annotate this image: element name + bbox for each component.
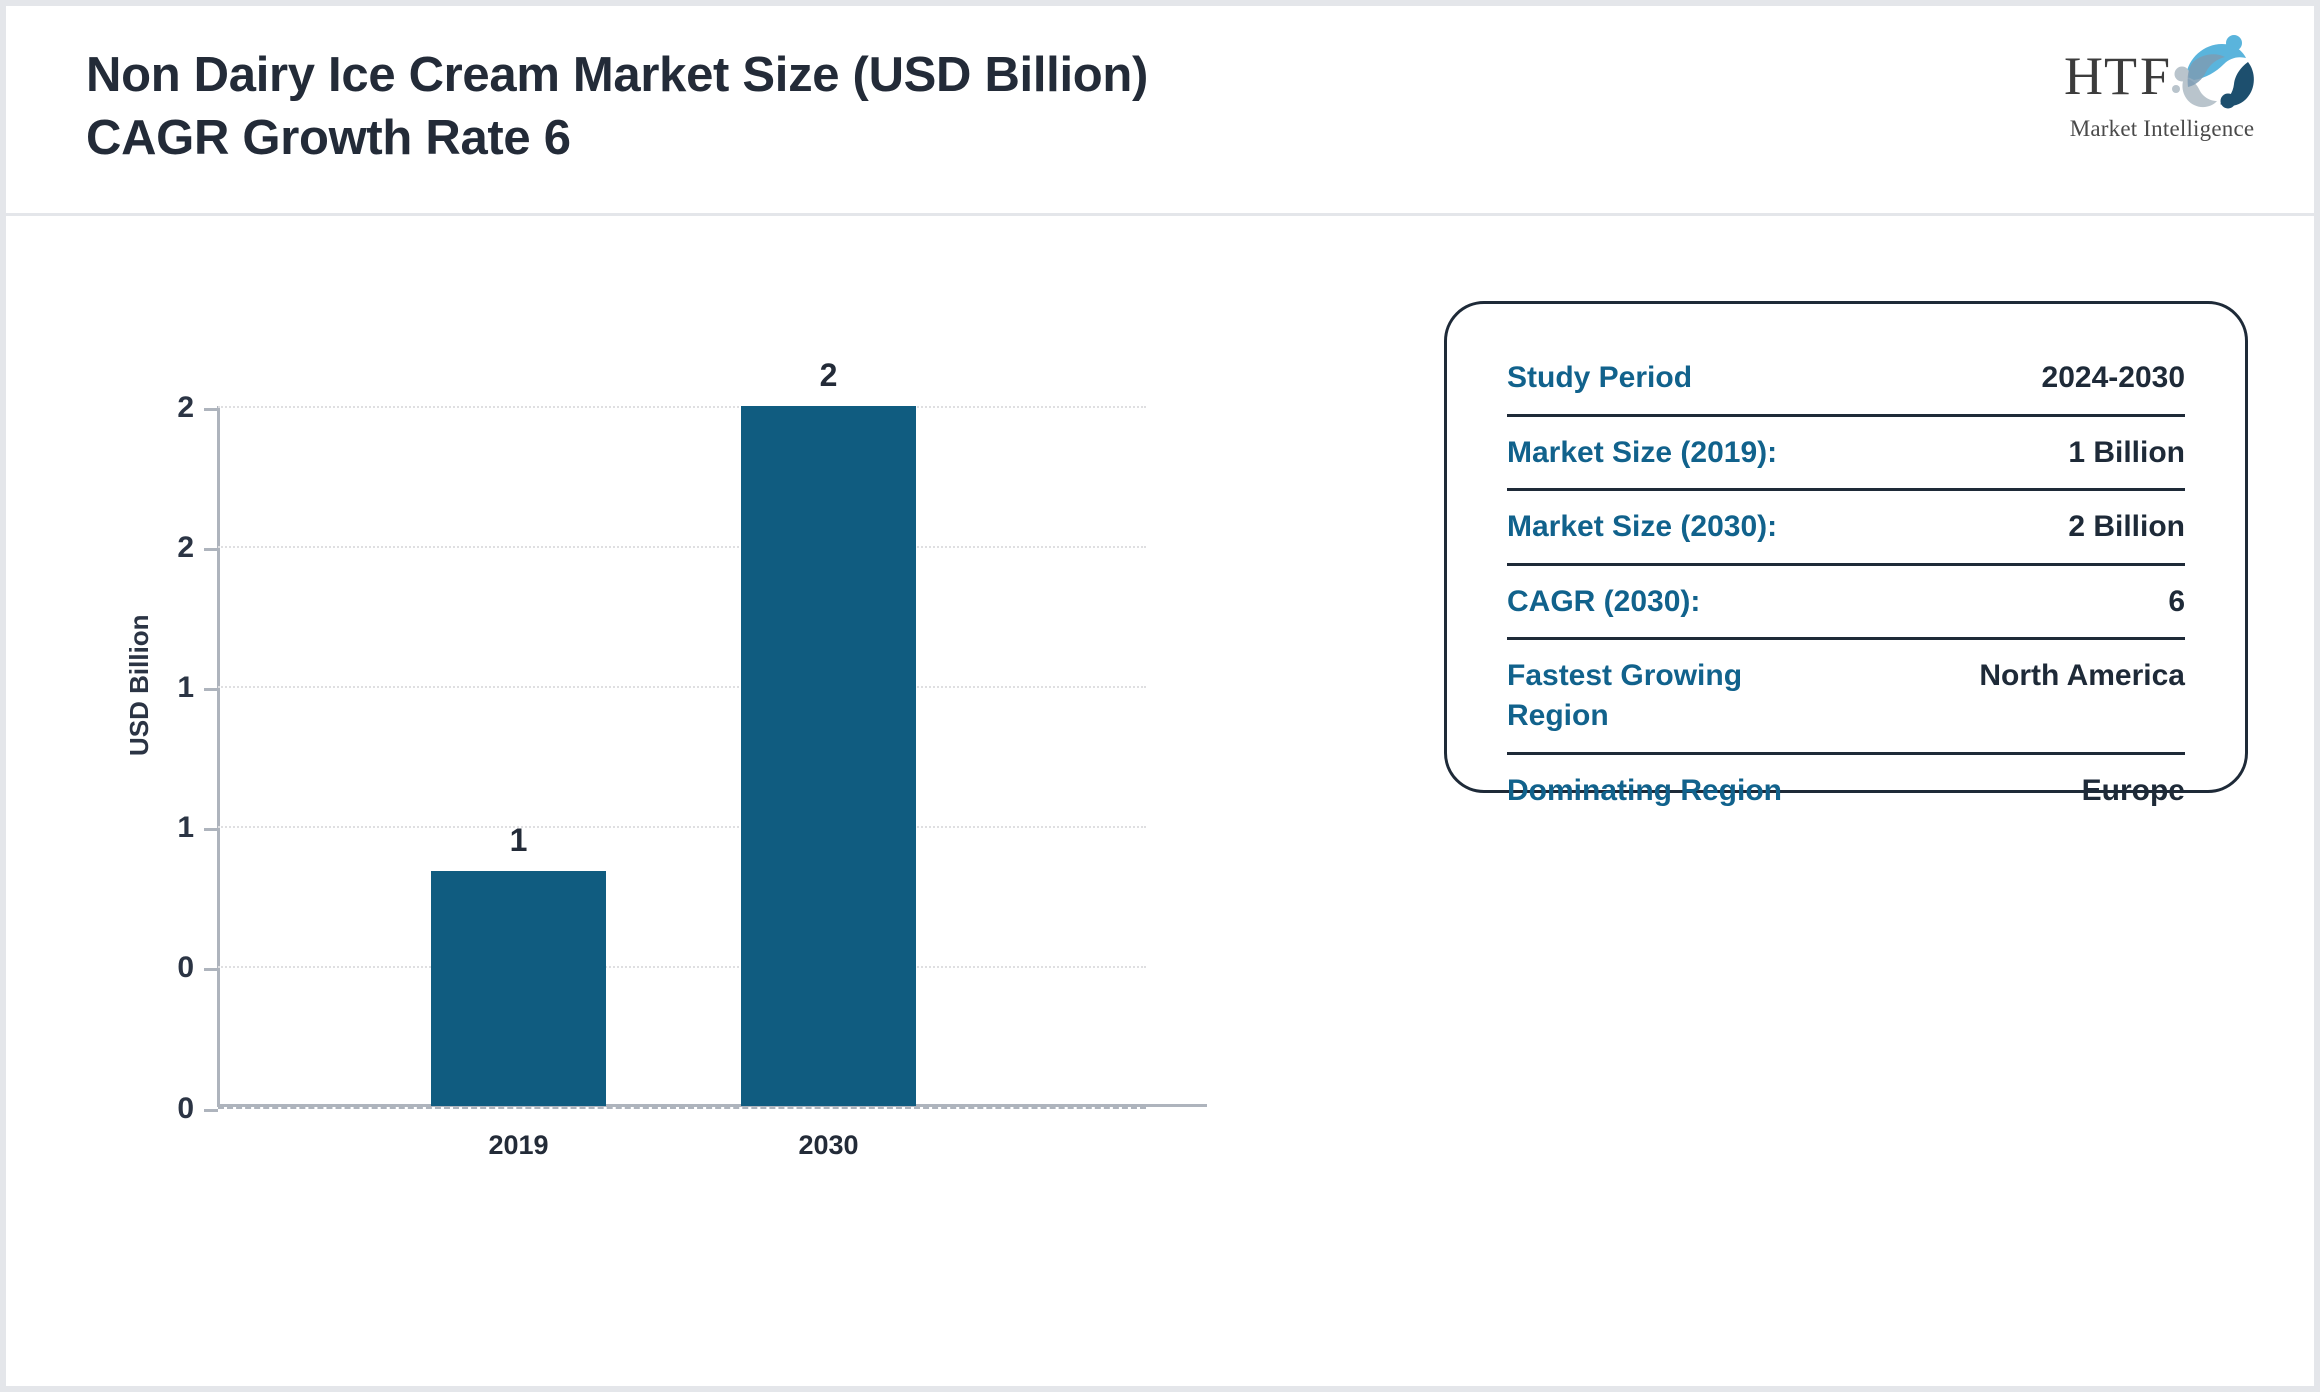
bar-value-2019: 1	[510, 822, 528, 859]
bar-2019[interactable]: 1 2019	[431, 871, 606, 1106]
info-row-study-period: Study Period 2024-2030	[1507, 358, 2185, 417]
info-value-market-size-2030: 2 Billion	[2068, 507, 2185, 547]
y-tick-label-1: 2	[177, 531, 194, 565]
info-label-market-size-2019: Market Size (2019):	[1507, 433, 1777, 473]
logo-wordmark: Market Intelligence	[2062, 116, 2262, 142]
tick-mark-5	[204, 1109, 218, 1112]
tick-mark-3	[204, 828, 218, 831]
y-tick-label-2: 1	[177, 671, 194, 705]
header: Non Dairy Ice Cream Market Size (USD Bil…	[6, 6, 2314, 216]
x-tick-label-2030: 2030	[798, 1130, 858, 1161]
gridline-3: 1	[218, 826, 1146, 828]
gridline-baseline: 0	[218, 1106, 1146, 1109]
y-axis-title: USD Billion	[124, 614, 155, 756]
plot-area: 2 2 1 1 0 0 1	[218, 406, 1146, 1106]
htf-market-intelligence-logo: H T F Market Intelligence	[2062, 32, 2262, 144]
svg-text:T: T	[2104, 46, 2137, 106]
tick-mark-4	[204, 968, 218, 971]
info-label-cagr-2030: CAGR (2030):	[1507, 582, 1700, 622]
info-row-market-size-2030: Market Size (2030): 2 Billion	[1507, 507, 2185, 566]
tick-mark-2	[204, 688, 218, 691]
info-label-market-size-2030: Market Size (2030):	[1507, 507, 1777, 547]
gridline-2: 1	[218, 686, 1146, 688]
tick-mark-1	[204, 548, 218, 551]
page-title: Non Dairy Ice Cream Market Size (USD Bil…	[86, 44, 1786, 169]
info-value-fastest-growing-region: North America	[1979, 656, 2185, 696]
bar-chart: USD Billion 2 2 1 1 0	[6, 216, 1326, 1392]
x-tick-label-2019: 2019	[488, 1130, 548, 1161]
info-label-fastest-growing-region: Fastest Growing Region	[1507, 656, 1837, 735]
info-row-fastest-growing-region: Fastest Growing Region North America	[1507, 656, 2185, 754]
info-label-study-period: Study Period	[1507, 358, 1692, 398]
tick-mark-0	[204, 408, 218, 411]
page-title-line-1: Non Dairy Ice Cream Market Size (USD Bil…	[86, 44, 1786, 107]
page-title-line-2: CAGR Growth Rate 6	[86, 107, 1786, 170]
info-value-market-size-2019: 1 Billion	[2068, 433, 2185, 473]
gridline-1: 2	[218, 546, 1146, 548]
svg-text:F: F	[2140, 46, 2170, 106]
y-tick-label-5: 0	[177, 1092, 194, 1126]
y-tick-label-0: 2	[177, 391, 194, 425]
info-value-study-period: 2024-2030	[2042, 358, 2185, 398]
market-summary-card: Study Period 2024-2030 Market Size (2019…	[1444, 301, 2248, 793]
bar-value-2030: 2	[820, 357, 838, 394]
svg-text:H: H	[2064, 46, 2103, 106]
bar-2030[interactable]: 2 2030	[741, 406, 916, 1106]
info-value-cagr-2030: 6	[2168, 582, 2185, 622]
y-tick-label-4: 0	[177, 951, 194, 985]
info-value-dominating-region: Europe	[2082, 771, 2185, 811]
gridline-0: 2	[218, 406, 1146, 408]
info-row-market-size-2019: Market Size (2019): 1 Billion	[1507, 433, 2185, 492]
htf-logo-icon: H T F	[2062, 32, 2262, 110]
y-axis-spine	[217, 406, 220, 1106]
market-report-slide: Non Dairy Ice Cream Market Size (USD Bil…	[0, 0, 2320, 1392]
info-row-cagr-2030: CAGR (2030): 6	[1507, 582, 2185, 641]
y-tick-label-3: 1	[177, 811, 194, 845]
gridline-4: 0	[218, 966, 1146, 968]
info-label-dominating-region: Dominating Region	[1507, 771, 1782, 811]
info-row-dominating-region: Dominating Region Europe	[1507, 771, 2185, 827]
